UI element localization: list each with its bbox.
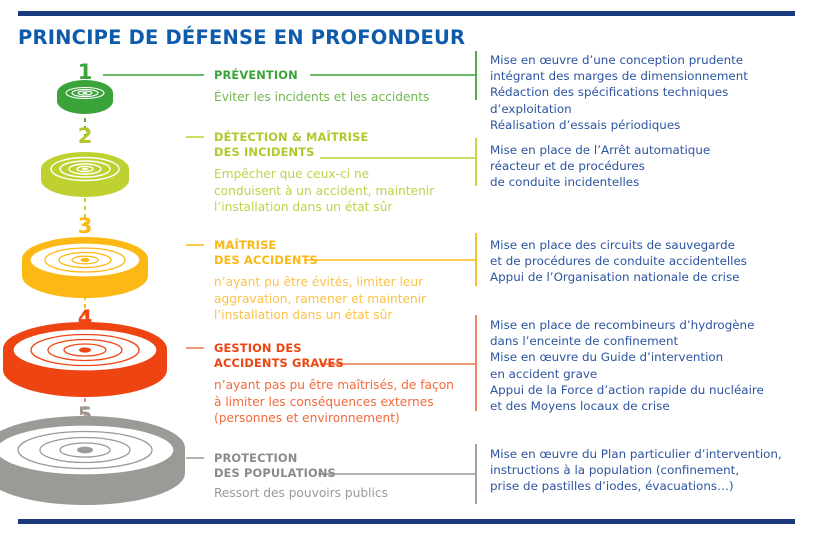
level-details-1: Mise en œuvre d’une conception prudente …	[490, 52, 748, 133]
disk-level-3	[22, 237, 148, 298]
level-details-3: Mise en place des circuits de sauvegarde…	[490, 237, 747, 286]
level-number-5: 5	[65, 403, 105, 427]
level-heading-2: DÉTECTION & MAÎTRISE DES INCIDENTS	[214, 130, 368, 159]
level-subtitle-5: Ressort des pouvoirs publics	[214, 485, 388, 502]
top-rule	[18, 11, 795, 16]
level-subtitle-2: Empêcher que ceux-ci ne conduisent à un …	[214, 166, 434, 216]
level-heading-4: GESTION DES ACCIDENTS GRAVES	[214, 341, 344, 370]
level-subtitle-4: n’ayant pas pu être maîtrisés, de façon …	[214, 377, 454, 427]
level-number-2: 2	[65, 124, 105, 148]
disk-level-5	[0, 416, 185, 505]
bottom-rule	[18, 519, 795, 524]
level-number-3: 3	[65, 214, 105, 238]
level-heading-1: PRÉVENTION	[214, 68, 298, 83]
level-subtitle-3: n’ayant pu être évités, limiter leur agg…	[214, 274, 426, 324]
defense-in-depth-figure: 1 2 3 4 5 PRÉVENTION Éviter les incident…	[0, 48, 813, 513]
level-details-5: Mise en œuvre du Plan particulier d’inte…	[490, 446, 782, 495]
page-title: PRINCIPE DE DÉFENSE EN PROFONDEUR	[18, 26, 465, 49]
disk-level-1	[57, 80, 113, 114]
level-number-4: 4	[65, 306, 105, 330]
level-subtitle-1: Éviter les incidents et les accidents	[214, 89, 429, 106]
level-heading-3: MAÎTRISE DES ACCIDENTS	[214, 238, 318, 267]
level-details-4: Mise en place de recombineurs d’hydrogèn…	[490, 317, 764, 414]
level-number-1: 1	[65, 60, 105, 84]
disk-level-2	[41, 152, 129, 197]
disk-level-4	[3, 322, 167, 397]
infographic-page: PRINCIPE DE DÉFENSE EN PROFONDEUR	[0, 0, 813, 541]
level-heading-5: PROTECTION DES POPULATIONS	[214, 451, 336, 480]
level-details-2: Mise en place de l’Arrêt automatique réa…	[490, 142, 710, 191]
